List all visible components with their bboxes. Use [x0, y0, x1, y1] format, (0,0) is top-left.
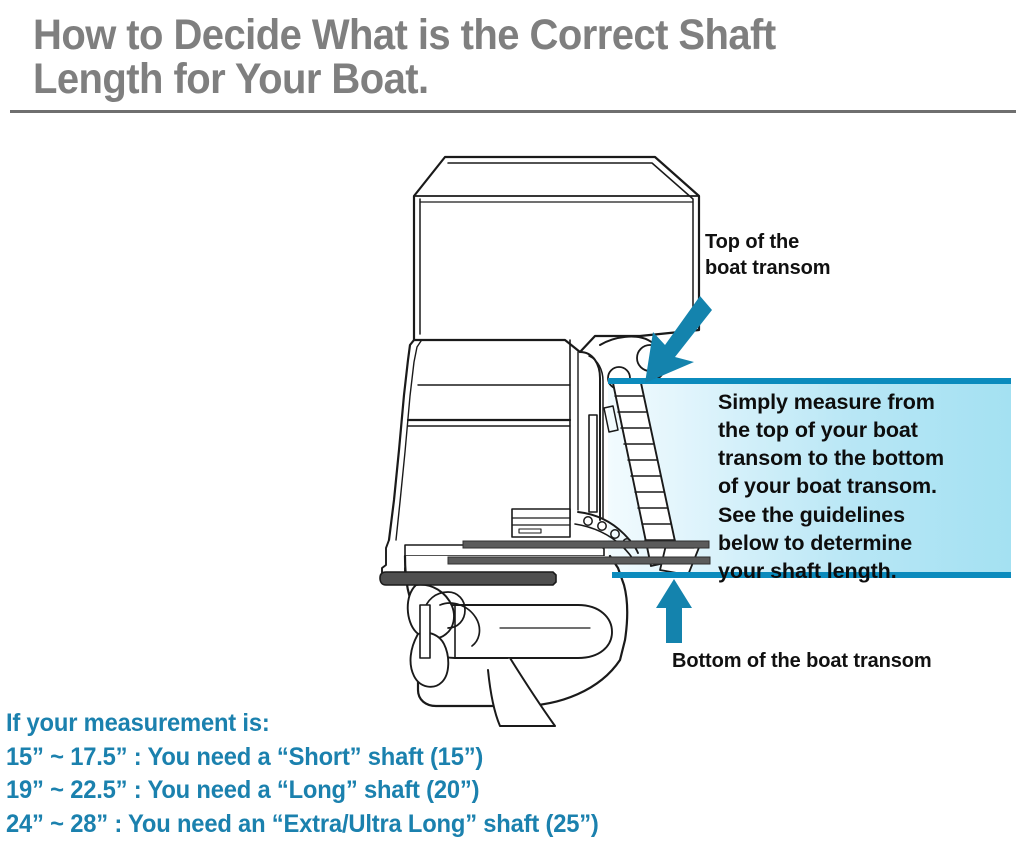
guideline-extra-ultra-long-shaft: 24” ~ 28” : You need an “Extra/Ultra Lon…	[6, 808, 728, 842]
infographic-page: How to Decide What is the Correct Shaft …	[0, 0, 1024, 851]
guideline-long-shaft: 19” ~ 22.5” : You need a “Long” shaft (2…	[6, 774, 728, 808]
guideline-short-shaft: 15” ~ 17.5” : You need a “Short” shaft (…	[6, 741, 728, 775]
callout-text: Simply measure from the top of your boat…	[718, 388, 998, 585]
guidelines-block: If your measurement is: 15” ~ 17.5” : Yo…	[6, 707, 766, 841]
bottom-transom-arrow	[656, 579, 692, 643]
guidelines-intro: If your measurement is:	[6, 707, 728, 741]
label-bottom-of-boat-transom: Bottom of the boat transom	[672, 650, 932, 673]
label-top-of-boat-transom: Top of the boat transom	[705, 230, 830, 281]
